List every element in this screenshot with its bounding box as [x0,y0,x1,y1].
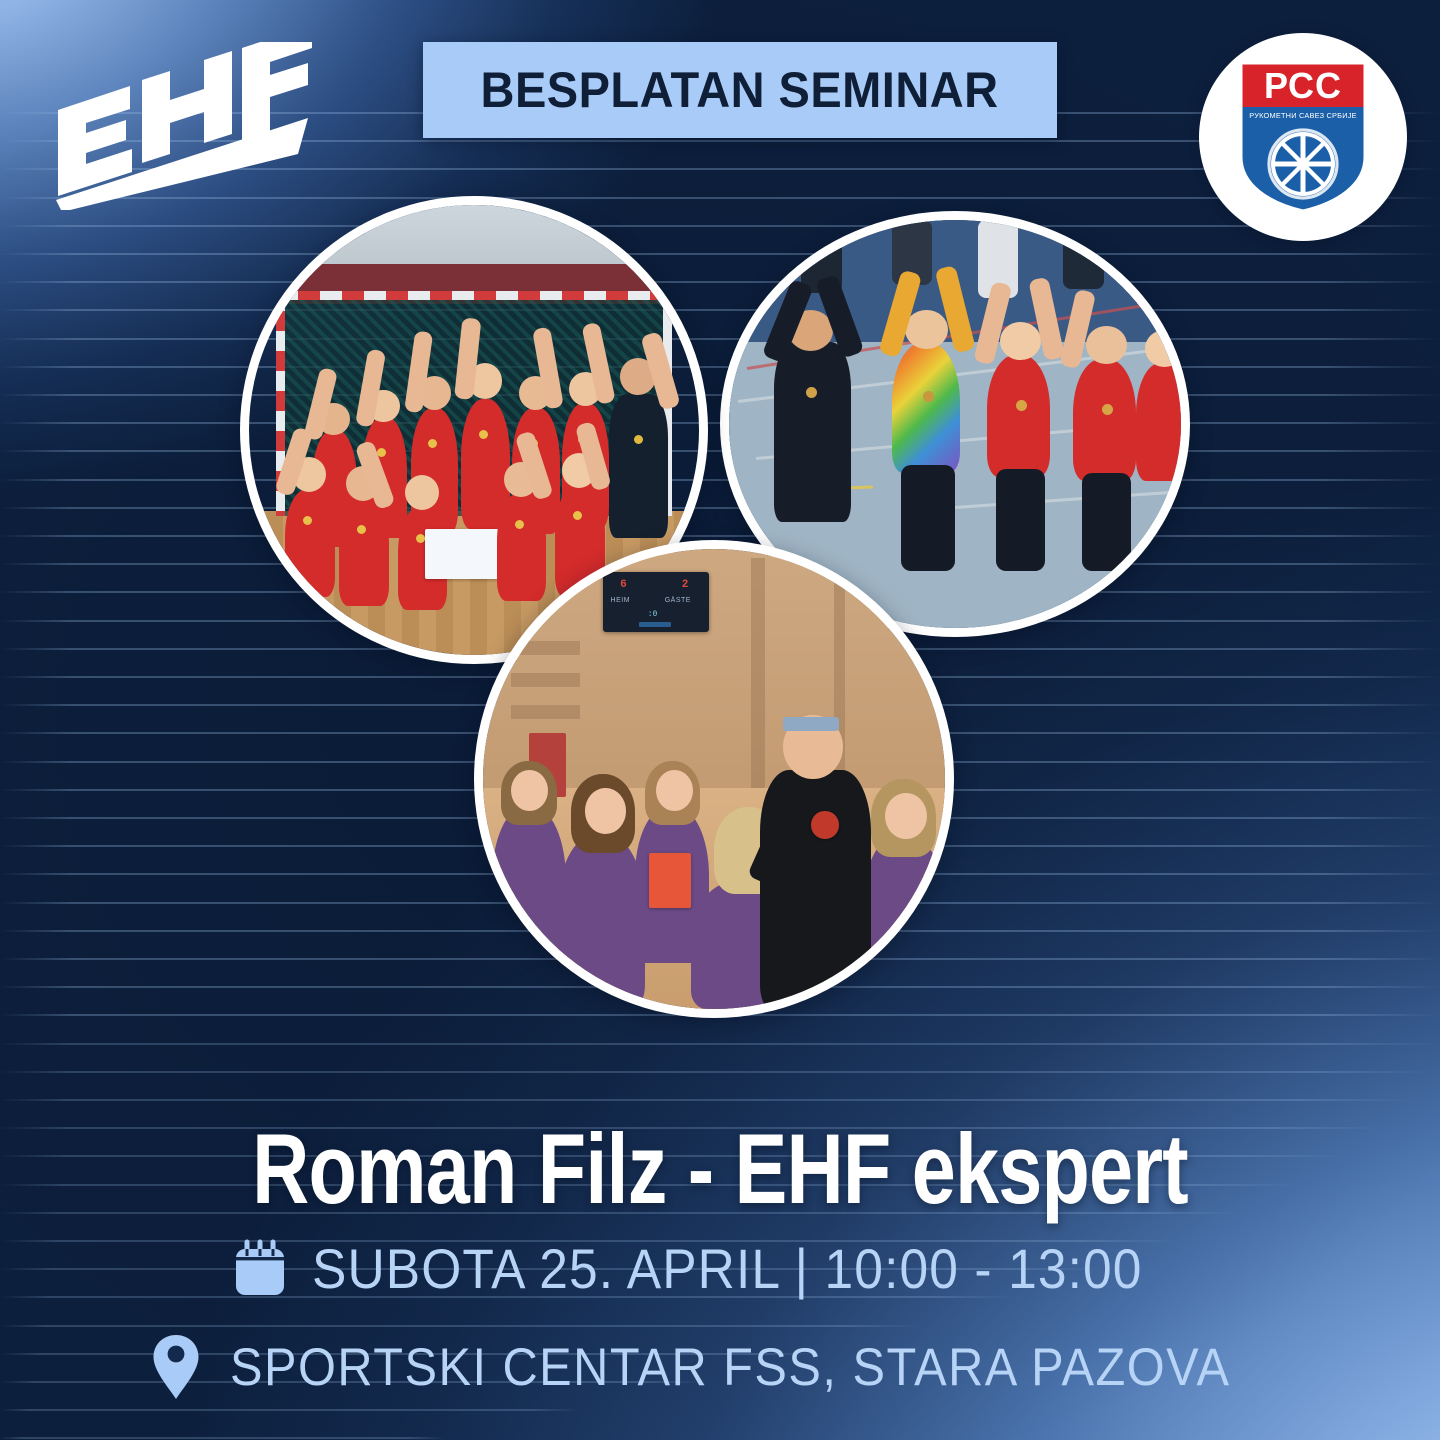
seminar-poster: BESPLATAN SEMINAR РСС РУКОМЕТНИ САВЕЗ СР… [0,0,1440,1440]
scoreboard-home-label: HEIM [611,597,631,604]
svg-text:РУКОМЕТНИ САВЕЗ СРБИЈЕ: РУКОМЕТНИ САВЕЗ СРБИЈЕ [1249,111,1357,120]
scoreboard: 6 2 HEIM GÄSTE :0 [603,572,709,632]
ehf-logo-icon [46,42,314,210]
scoreboard-timer: :0 [648,610,658,619]
seminar-banner: BESPLATAN SEMINAR [423,42,1057,138]
scoreboard-away-score: 2 [682,579,689,591]
speaker-name: Roman Filz - EHF ekspert [144,1112,1296,1226]
scoreboard-away-label: GÄSTE [665,597,691,604]
event-venue-text: SPORTSKI CENTAR FSS, STARA PAZOVA [230,1337,1231,1398]
map-pin-icon [152,1333,200,1401]
event-venue-row: SPORTSKI CENTAR FSS, STARA PAZOVA [152,1333,1318,1401]
svg-text:РСС: РСС [1264,65,1342,106]
banner-label: BESPLATAN SEMINAR [481,61,999,119]
event-date-text: SUBOTA 25. APRIL | 10:00 - 13:00 [312,1236,1143,1301]
rss-federation-logo: РСС РУКОМЕТНИ САВЕЗ СРБИЈЕ [1199,33,1407,241]
scoreboard-home-score: 6 [620,579,627,591]
calendar-icon [232,1239,288,1299]
photo-coach-talk: 6 2 HEIM GÄSTE :0 [474,540,954,1018]
event-date-row: SUBOTA 25. APRIL | 10:00 - 13:00 [232,1236,1215,1301]
